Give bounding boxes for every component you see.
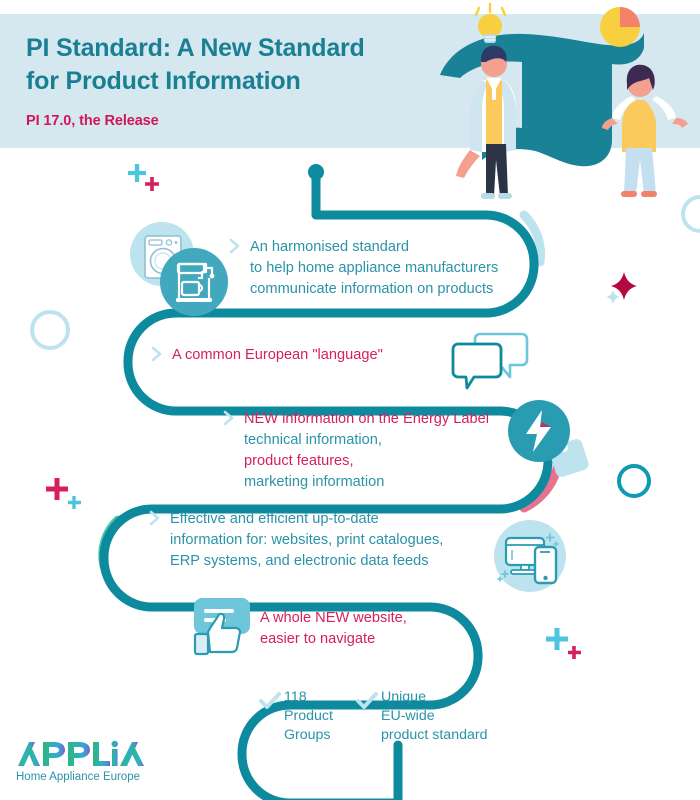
- block-line: A common European "language": [172, 345, 383, 366]
- check-text: 118 Product Groups: [284, 688, 333, 745]
- chevron-right-icon: [150, 345, 166, 365]
- circle-decor-edge: [678, 192, 700, 241]
- applia-logo: Home Appliance Europe: [16, 736, 166, 786]
- chevron-right-icon: [148, 509, 164, 529]
- applia-tagline: Home Appliance Europe: [16, 771, 140, 783]
- plus-decor-top: [126, 162, 166, 201]
- block-text: NEW information on the Energy Label tech…: [244, 409, 489, 493]
- page-title-line-2: for Product Information: [26, 65, 446, 98]
- header-illustration: [430, 0, 700, 200]
- plus-decor-bottom-right: [544, 626, 588, 669]
- check-line: product standard: [381, 726, 487, 745]
- block-line: NEW information on the Energy Label: [244, 409, 489, 430]
- check-line: Unique: [381, 688, 487, 707]
- block-line: communicate information on products: [250, 279, 498, 300]
- accent-arc-mint: [103, 520, 118, 566]
- block-text: An harmonised standard to help home appl…: [250, 237, 498, 300]
- speech-bubbles-icon: [450, 330, 530, 397]
- person-right-illustration: [602, 65, 688, 197]
- block-line: A whole NEW website,: [260, 608, 407, 629]
- block-line: easier to navigate: [260, 629, 407, 650]
- block-line: An harmonised standard: [250, 237, 498, 258]
- check-text: Unique EU-wide product standard: [381, 688, 487, 745]
- pie-chart-icon: [600, 7, 640, 47]
- check-product-groups: 118 Product Groups: [258, 690, 282, 717]
- block-text: A whole NEW website, easier to navigate: [260, 608, 407, 650]
- block-line: information for: websites, print catalog…: [170, 530, 443, 551]
- energy-bolt-icon: [508, 400, 570, 467]
- page-title: PI Standard: A New Standard for Product …: [26, 32, 446, 98]
- page-subtitle: PI 17.0, the Release: [26, 113, 159, 129]
- block-line: technical information,: [244, 430, 489, 451]
- plus-decor-left: [44, 476, 88, 519]
- block-text: A common European "language": [172, 345, 383, 366]
- check-eu-standard: Unique EU-wide product standard: [355, 690, 379, 717]
- check-line: Groups: [284, 726, 333, 745]
- applia-wordmark: [18, 741, 144, 766]
- block-line: ERP systems, and electronic data feeds: [170, 551, 443, 572]
- block-line: marketing information: [244, 472, 489, 493]
- check-icon: [355, 699, 379, 716]
- infographic-page: PI Standard: A New Standard for Product …: [0, 0, 700, 800]
- page-title-line-1: PI Standard: A New Standard: [26, 32, 446, 65]
- block-line: product features,: [244, 451, 489, 472]
- circle-decor-left: [28, 308, 72, 357]
- chevron-right-icon: [222, 409, 238, 429]
- block-line: to help home appliance manufacturers: [250, 258, 498, 279]
- coffee-machine-icon: [160, 248, 228, 321]
- diamond-decor: [600, 268, 640, 313]
- block-line: Effective and efficient up-to-date: [170, 509, 443, 530]
- thumbs-up-bubble-icon: [192, 594, 262, 663]
- chevron-right-icon: [228, 237, 244, 257]
- check-icon: [258, 699, 282, 716]
- circle-decor-right: [614, 461, 654, 506]
- check-line: Product: [284, 707, 333, 726]
- accent-arc-top: [524, 215, 541, 262]
- monitor-phone-icon: [492, 518, 568, 599]
- check-line: 118: [284, 688, 333, 707]
- ribbon-start-dot: [308, 164, 324, 180]
- check-line: EU-wide: [381, 707, 487, 726]
- block-text: Effective and efficient up-to-date infor…: [170, 509, 443, 572]
